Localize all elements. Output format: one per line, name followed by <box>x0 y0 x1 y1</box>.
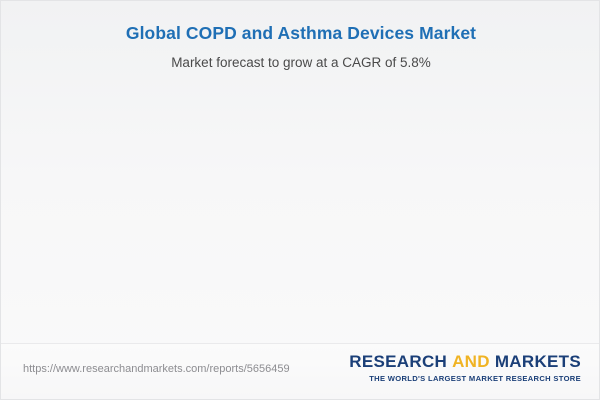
brand-wordmark: RESEARCHANDMARKETS <box>349 353 581 370</box>
chart-footer: https://www.researchandmarkets.com/repor… <box>1 343 600 399</box>
brand-word-research: RESEARCH <box>349 352 447 371</box>
brand-word-and: AND <box>452 352 490 371</box>
infographic-canvas: Global COPD and Asthma Devices Market Ma… <box>0 0 600 400</box>
chart-plot-area: USD 40.82 Billion 2021 USD 57.09 Billion <box>1 1 600 346</box>
brand-tagline: THE WORLD'S LARGEST MARKET RESEARCH STOR… <box>349 375 581 383</box>
brand-logo[interactable]: RESEARCHANDMARKETS THE WORLD'S LARGEST M… <box>349 353 581 383</box>
brand-word-markets: MARKETS <box>495 352 581 371</box>
source-url-link[interactable]: https://www.researchandmarkets.com/repor… <box>23 363 290 375</box>
